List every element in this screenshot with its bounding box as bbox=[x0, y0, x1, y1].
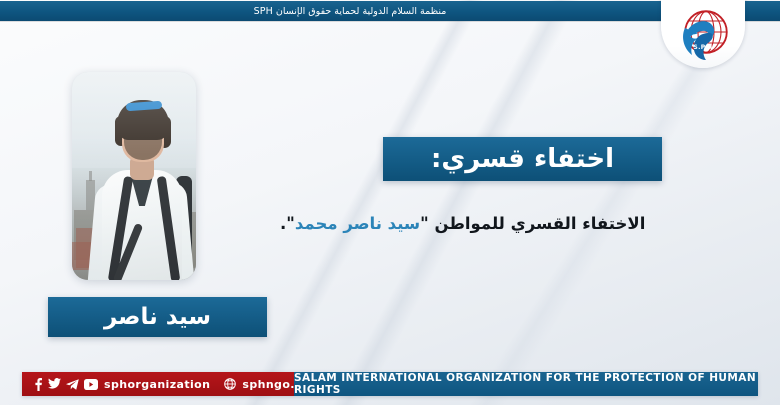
headline-banner: اختفاء قسري: bbox=[383, 137, 662, 181]
social-handle-label[interactable]: sphorganization bbox=[104, 378, 210, 391]
footer-bar: sphorganization sphngo.org SALAM INTERNA… bbox=[22, 372, 758, 396]
globe-icon bbox=[224, 378, 236, 390]
logo-sph-text: S.P.H bbox=[673, 44, 733, 51]
poster-canvas: منظمة السلام الدولية لحماية حقوق الإنسان… bbox=[0, 0, 780, 405]
youtube-icon[interactable] bbox=[84, 379, 98, 390]
victim-name-badge: سيد ناصر bbox=[48, 297, 267, 337]
facebook-icon[interactable] bbox=[34, 378, 43, 391]
victim-portrait-photo bbox=[72, 72, 196, 280]
body-statement: الاختفاء القسري للمواطن "سيد ناصر محمد". bbox=[280, 209, 730, 237]
footer-social-section: sphorganization sphngo.org bbox=[22, 372, 294, 396]
sph-logo-icon: S.P.H bbox=[673, 6, 733, 62]
body-statement-highlight: سيد ناصر محمد bbox=[295, 214, 420, 233]
victim-name-badge-label: سيد ناصر bbox=[104, 304, 211, 330]
body-statement-prefix: الاختفاء القسري للمواطن " bbox=[420, 214, 645, 233]
headline-label: اختفاء قسري: bbox=[431, 144, 614, 174]
twitter-icon[interactable] bbox=[48, 378, 61, 390]
body-statement-suffix: ". bbox=[280, 214, 295, 233]
telegram-icon[interactable] bbox=[66, 379, 79, 390]
logo-plate: S.P.H bbox=[661, 0, 745, 68]
organization-name-arabic: منظمة السلام الدولية لحماية حقوق الإنسان… bbox=[0, 1, 700, 21]
footer-org-section: SALAM INTERNATIONAL ORGANIZATION FOR THE… bbox=[294, 372, 758, 396]
social-icon-group bbox=[34, 378, 98, 391]
organization-name-english: SALAM INTERNATIONAL ORGANIZATION FOR THE… bbox=[294, 372, 758, 396]
